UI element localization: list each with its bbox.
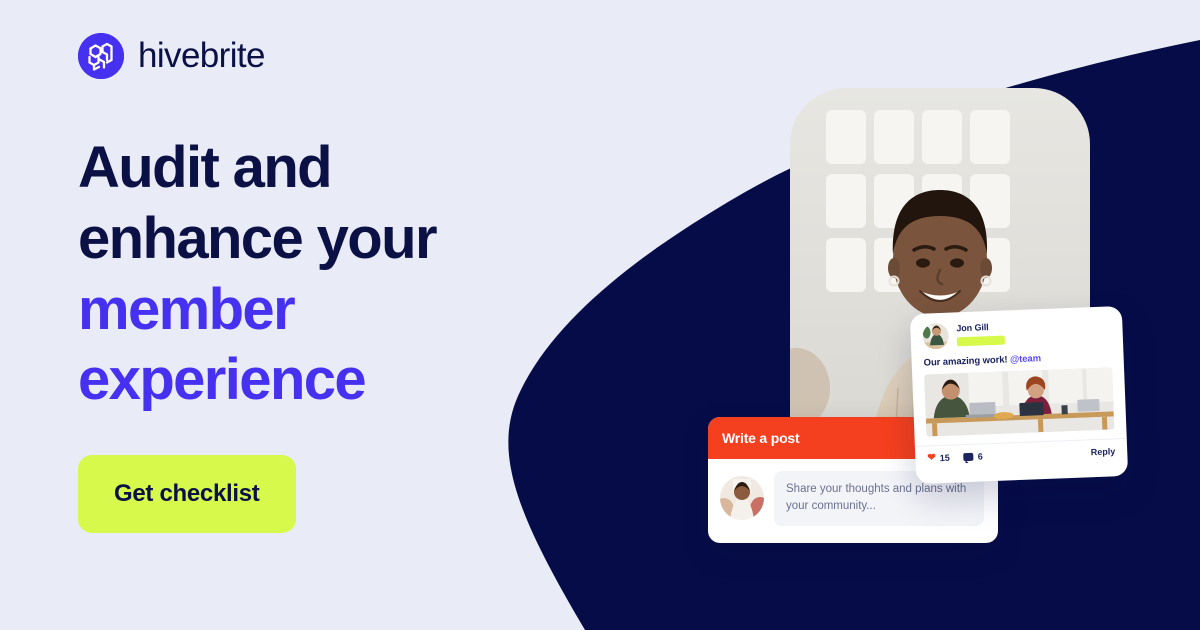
post-comment-count: 6 [978, 451, 983, 461]
post-reply-button[interactable]: Reply [1091, 446, 1116, 457]
post-author-meta: Jon Gill [956, 321, 1005, 347]
post-author-name: Jon Gill [956, 322, 1004, 334]
composer-user-avatar [720, 476, 764, 520]
headline-line-3: member [78, 275, 548, 346]
headline-line-2: enhance your [78, 204, 548, 275]
brand-logo[interactable]: hivebrite [78, 33, 265, 79]
post-mention[interactable]: @team [1010, 353, 1041, 365]
post-actions: ❤ 15 6 Reply [915, 438, 1128, 464]
headline-line-4: experience [78, 345, 548, 416]
hivebrite-hex-logo-icon [78, 33, 124, 79]
comment-bubble-icon [964, 453, 974, 461]
post-comment-action[interactable]: 6 [964, 451, 983, 462]
post-image [924, 367, 1114, 436]
post-like-count: 15 [940, 453, 950, 463]
heart-icon: ❤ [927, 453, 936, 463]
feed-post-card[interactable]: Jon Gill Our amazing work! @team [910, 306, 1128, 484]
headline-line-1: Audit and [78, 133, 548, 204]
post-like-action[interactable]: ❤ 15 [927, 453, 950, 464]
page-title: Audit and enhance your member experience [78, 133, 548, 416]
get-checklist-button[interactable]: Get checklist [78, 455, 296, 533]
post-message: Our amazing work! [923, 354, 1007, 368]
composer-title: Write a post [722, 430, 799, 446]
post-subtitle-redacted-bar [957, 336, 1005, 347]
brand-wordmark: hivebrite [138, 36, 265, 76]
post-author-avatar [922, 323, 949, 350]
